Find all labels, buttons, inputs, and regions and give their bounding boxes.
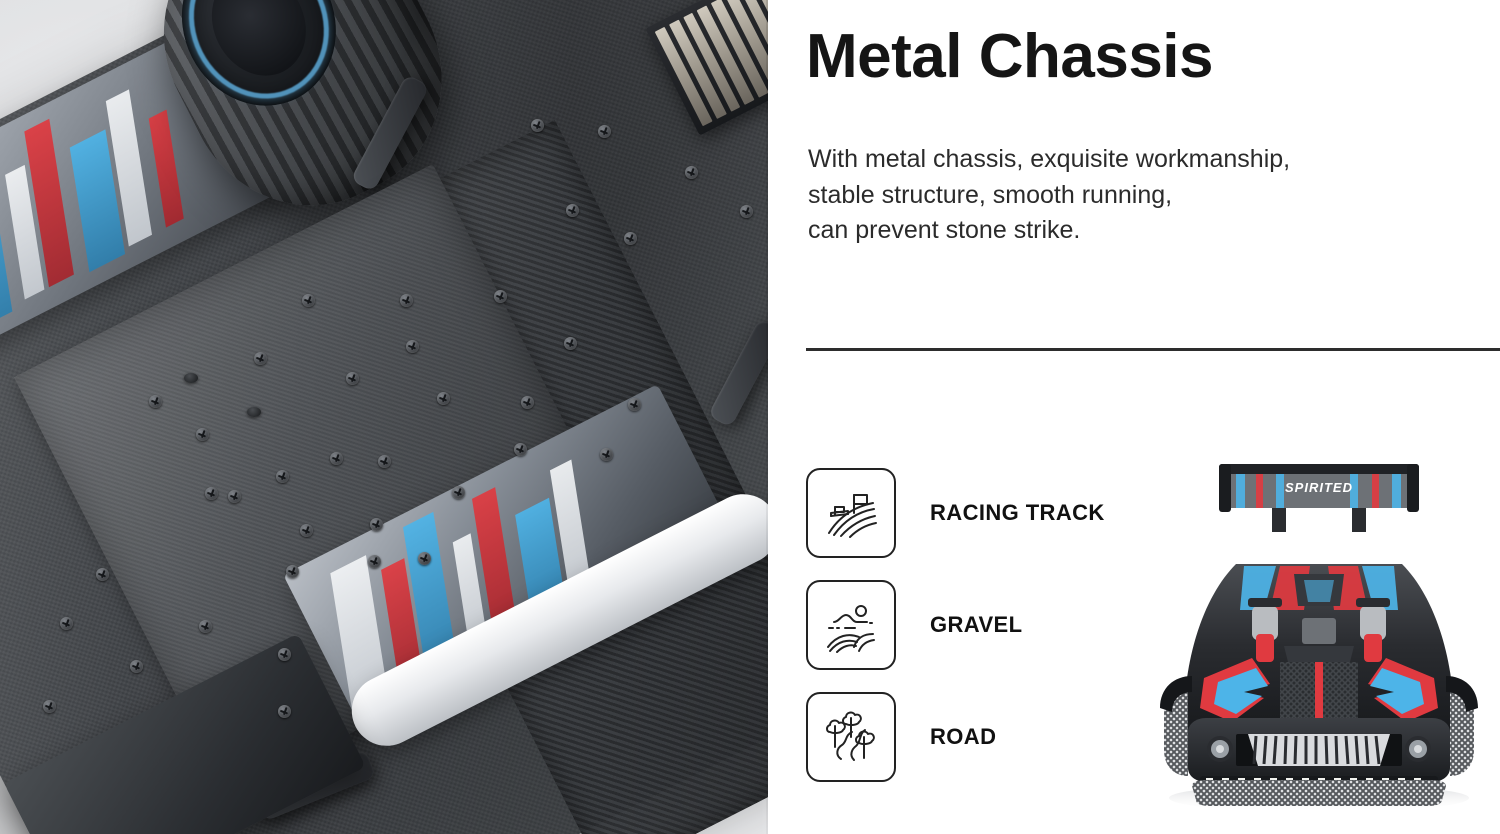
chassis-screw: [624, 232, 637, 245]
chassis-screw: [60, 617, 73, 630]
chassis-screw: [96, 568, 109, 581]
feature-item-gravel: GRAVEL: [806, 580, 1105, 670]
chassis-screw: [254, 352, 267, 365]
chassis-screw: [370, 518, 383, 531]
chassis-screw: [598, 125, 611, 138]
page-title: Metal Chassis: [806, 24, 1213, 89]
feature-label: ROAD: [930, 724, 996, 750]
rc-car-front-view: SPIRITED: [1144, 446, 1494, 816]
chassis-screw: [278, 648, 291, 661]
chassis-screw: [196, 428, 209, 441]
chassis-screw: [531, 119, 544, 132]
chassis-screw: [378, 455, 391, 468]
chassis-screw: [346, 372, 359, 385]
description-line-2: stable structure, smooth running,: [808, 178, 1498, 214]
rear-wing: SPIRITED: [1219, 464, 1419, 532]
front-grille: [1236, 734, 1402, 766]
chassis-screw: [302, 294, 315, 307]
chassis-screw: [278, 705, 291, 718]
chassis-screw: [149, 395, 162, 408]
chassis-screw: [205, 487, 218, 500]
chassis-photo: [0, 0, 768, 834]
feature-content: Metal Chassis With metal chassis, exquis…: [768, 0, 1500, 834]
chassis-screw: [452, 486, 465, 499]
chassis-screw: [400, 294, 413, 307]
chassis-screw: [740, 205, 753, 218]
chassis-screw: [286, 565, 299, 578]
feature-item-road: ROAD: [806, 692, 1105, 782]
wing-brand-text: SPIRITED: [1285, 480, 1353, 495]
description-line-1: With metal chassis, exquisite workmanshi…: [808, 142, 1498, 178]
receiver-box: [1302, 618, 1336, 644]
chassis-screw: [276, 470, 289, 483]
terrain-feature-list: RACING TRACK: [806, 468, 1105, 782]
chassis-screw: [228, 490, 241, 503]
chassis-screw: [300, 524, 313, 537]
chassis-screw: [406, 340, 419, 353]
feature-item-racing-track: RACING TRACK: [806, 468, 1105, 558]
chassis-screw: [600, 448, 613, 461]
description-line-3: can prevent stone strike.: [808, 213, 1498, 249]
product-feature-panel: Metal Chassis With metal chassis, exquis…: [0, 0, 1500, 834]
section-divider: [806, 348, 1500, 351]
chassis-screw: [330, 452, 343, 465]
chassis-stud: [247, 407, 261, 417]
chassis-screw: [494, 290, 507, 303]
chassis-screw: [521, 396, 534, 409]
gravel-terrain-icon: [806, 580, 896, 670]
chassis-screw: [628, 398, 641, 411]
racing-track-icon: [806, 468, 896, 558]
chassis-screw: [437, 392, 450, 405]
feature-label: RACING TRACK: [930, 500, 1105, 526]
chassis-screw: [130, 660, 143, 673]
front-splitter: [1192, 780, 1446, 806]
chassis-screw: [685, 166, 698, 179]
chassis-screw: [566, 204, 579, 217]
chassis-screw: [418, 552, 431, 565]
road-trees-icon: [806, 692, 896, 782]
chassis-screw: [564, 337, 577, 350]
description: With metal chassis, exquisite workmanshi…: [808, 142, 1498, 249]
chassis-screw: [368, 555, 381, 568]
feature-label: GRAVEL: [930, 612, 1022, 638]
chassis-stud: [184, 373, 198, 383]
chassis-screw: [199, 620, 212, 633]
chassis-screw: [514, 443, 527, 456]
chassis-screw: [43, 700, 56, 713]
